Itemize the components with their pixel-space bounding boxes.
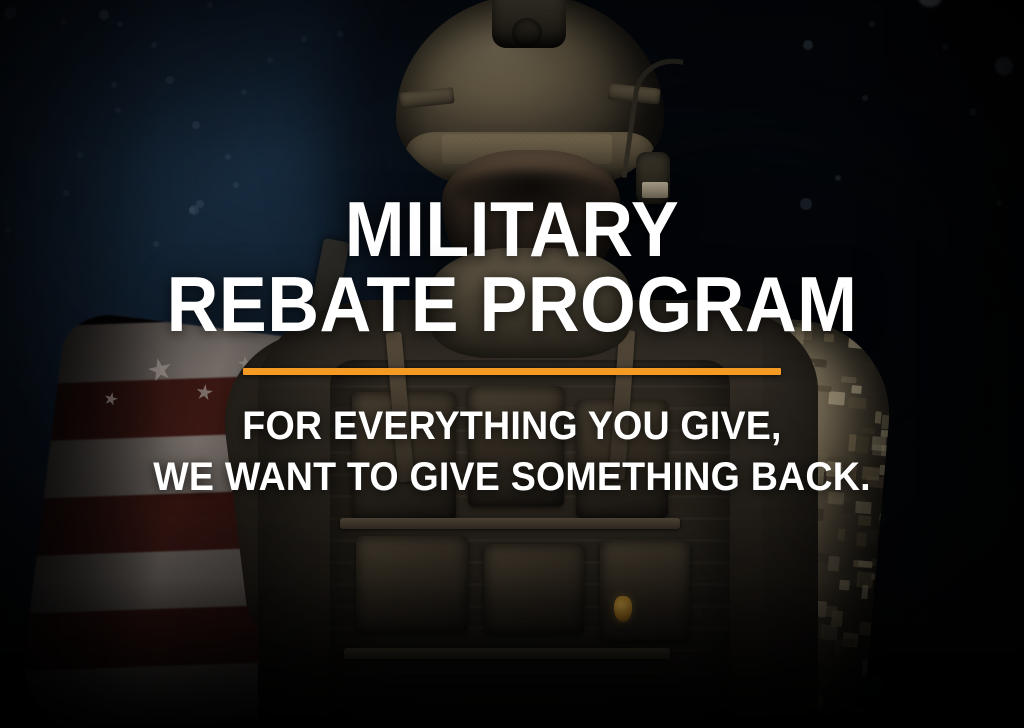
camo-pixel — [834, 639, 841, 655]
vest-pouch — [600, 540, 690, 642]
camo-pixel — [859, 622, 875, 636]
camo-pixel — [864, 529, 877, 546]
headline-line-2: REBATE PROGRAM — [41, 267, 983, 342]
camo-pixel — [837, 528, 845, 541]
camo-pixel — [822, 605, 838, 617]
subheadline-line-1: FOR EVERYTHING YOU GIVE, — [31, 401, 994, 452]
camo-pixel — [843, 503, 857, 514]
nvg-mount-knob — [512, 18, 542, 48]
page-title: MILITARY REBATE PROGRAM — [41, 192, 983, 342]
vest-pouch — [484, 544, 584, 634]
vest-amber-marker — [614, 596, 632, 622]
helmet-side-rail — [399, 87, 454, 109]
hero-text-content: MILITARY REBATE PROGRAM FOR EVERYTHING Y… — [0, 192, 1024, 503]
camo-pixel — [862, 660, 874, 676]
camo-pixel — [828, 556, 840, 572]
camo-pixel — [822, 675, 830, 688]
vest-pouch — [356, 536, 468, 632]
subheadline: FOR EVERYTHING YOU GIVE, WE WANT TO GIVE… — [31, 401, 994, 503]
divider-container — [0, 368, 1024, 375]
camo-pixel — [858, 560, 872, 567]
camo-pixel — [879, 513, 889, 522]
camo-pixel — [852, 707, 870, 715]
subheadline-line-2: WE WANT TO GIVE SOMETHING BACK. — [31, 452, 994, 503]
vest-molle-strap — [344, 648, 670, 659]
military-rebate-hero-banner: MILITARY REBATE PROGRAM FOR EVERYTHING Y… — [0, 0, 1024, 728]
vest-molle-strap — [340, 518, 680, 529]
orange-accent-divider — [243, 368, 781, 375]
camo-pixel — [858, 515, 872, 526]
camo-pixel — [871, 558, 881, 567]
camo-pixel — [839, 580, 850, 591]
headline-line-1: MILITARY — [41, 192, 983, 267]
camo-pixel — [861, 585, 868, 599]
